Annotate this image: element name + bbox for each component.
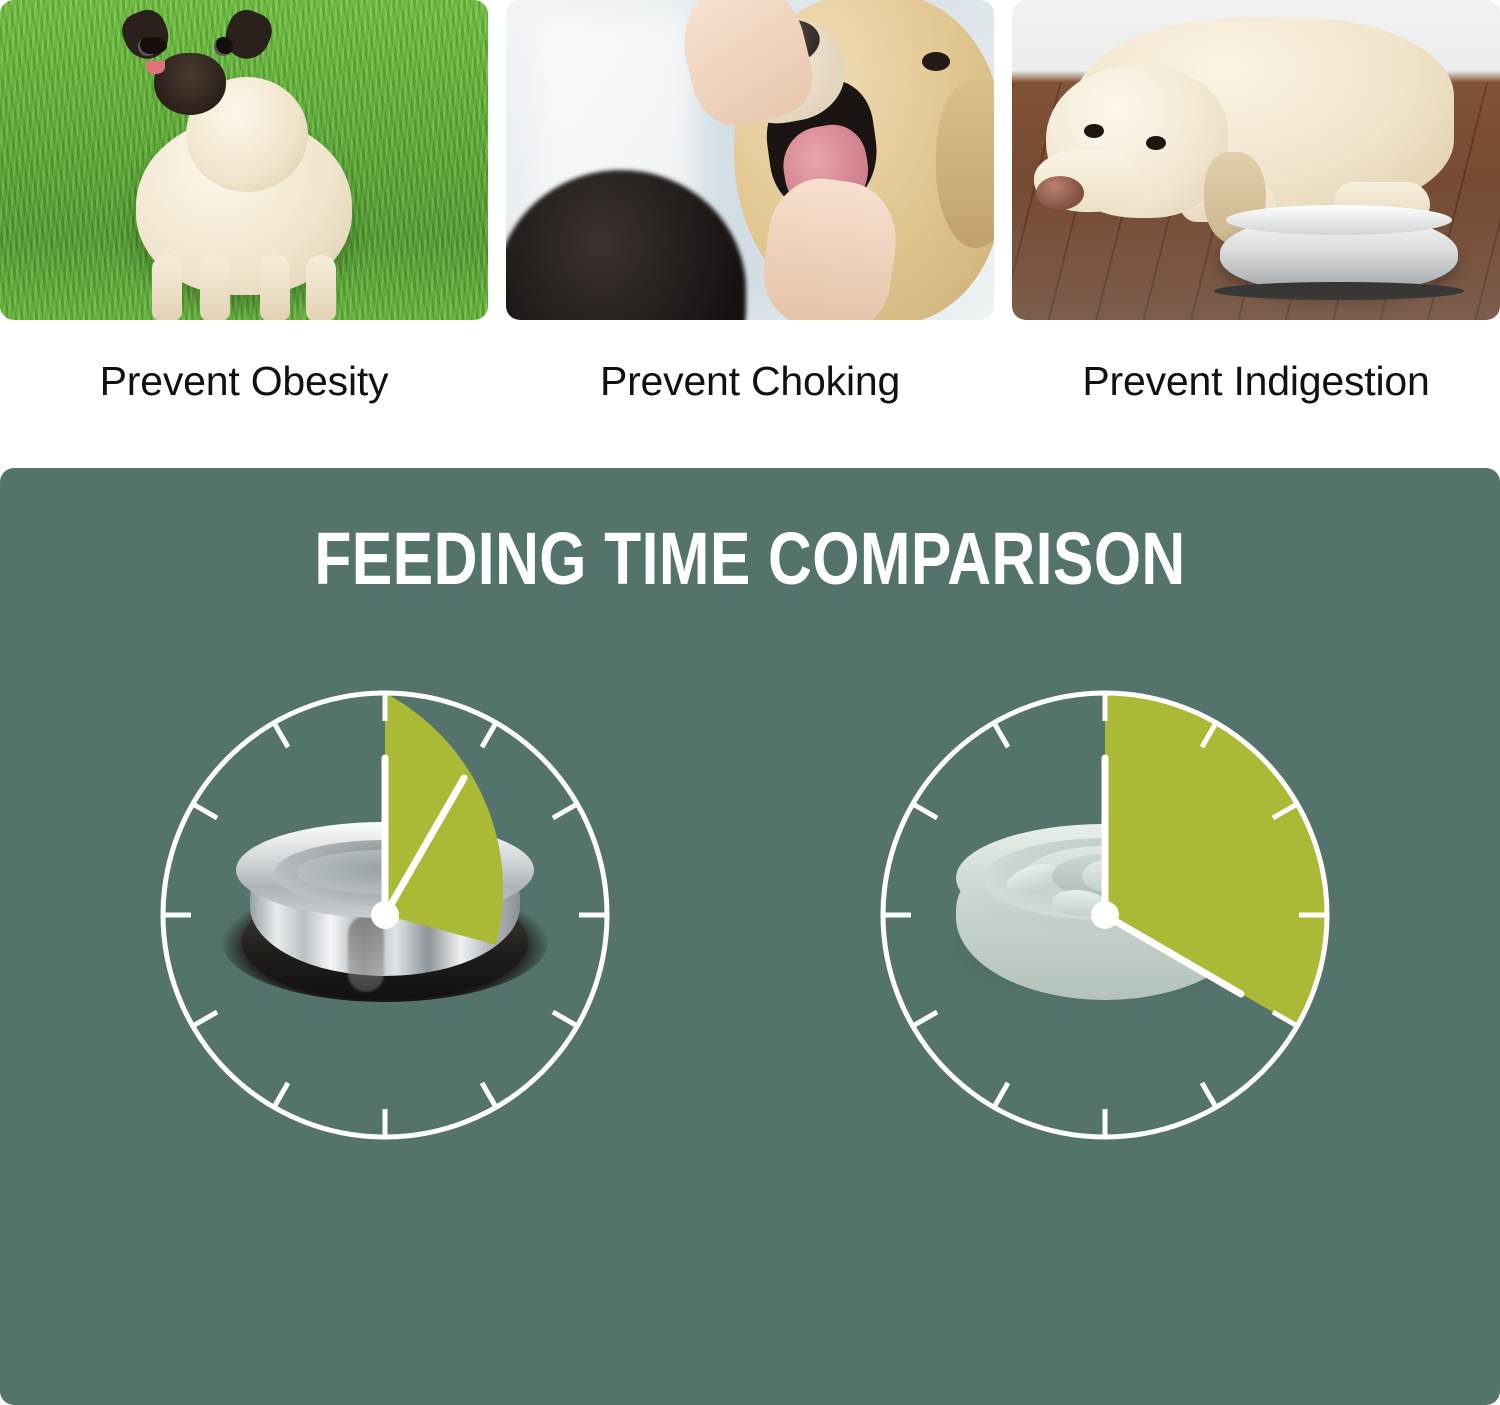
wood-floor-background — [1012, 0, 1500, 320]
benefit-caption-indigestion: Prevent Indigestion — [1082, 358, 1429, 405]
clock-hands-normal — [150, 680, 620, 1150]
dial-normal-bowl — [150, 680, 620, 1150]
benefits-strip: Prevent Obesity — [0, 0, 1500, 440]
benefit-caption-obesity: Prevent Obesity — [100, 358, 389, 405]
grass-background — [0, 0, 488, 320]
dial-chart-area — [0, 468, 1500, 1405]
benefit-card-obesity: Prevent Obesity — [0, 0, 488, 440]
benefit-card-choking: Prevent Choking — [506, 0, 994, 440]
photo-lab-beside-bowl — [1012, 0, 1500, 320]
infographic-page: Prevent Obesity — [0, 0, 1500, 1405]
clock-hands-slow — [870, 680, 1340, 1150]
photo-overweight-pug — [0, 0, 488, 320]
dial-slow-feeding-bowl — [870, 680, 1340, 1150]
clinic-background — [506, 0, 994, 320]
photo-dog-mouth-check — [506, 0, 994, 320]
feeding-time-comparison-panel: FEEDING TIME COMPARISON — [0, 468, 1500, 1405]
benefit-caption-choking: Prevent Choking — [600, 358, 900, 405]
benefit-card-indigestion: Prevent Indigestion — [1012, 0, 1500, 440]
